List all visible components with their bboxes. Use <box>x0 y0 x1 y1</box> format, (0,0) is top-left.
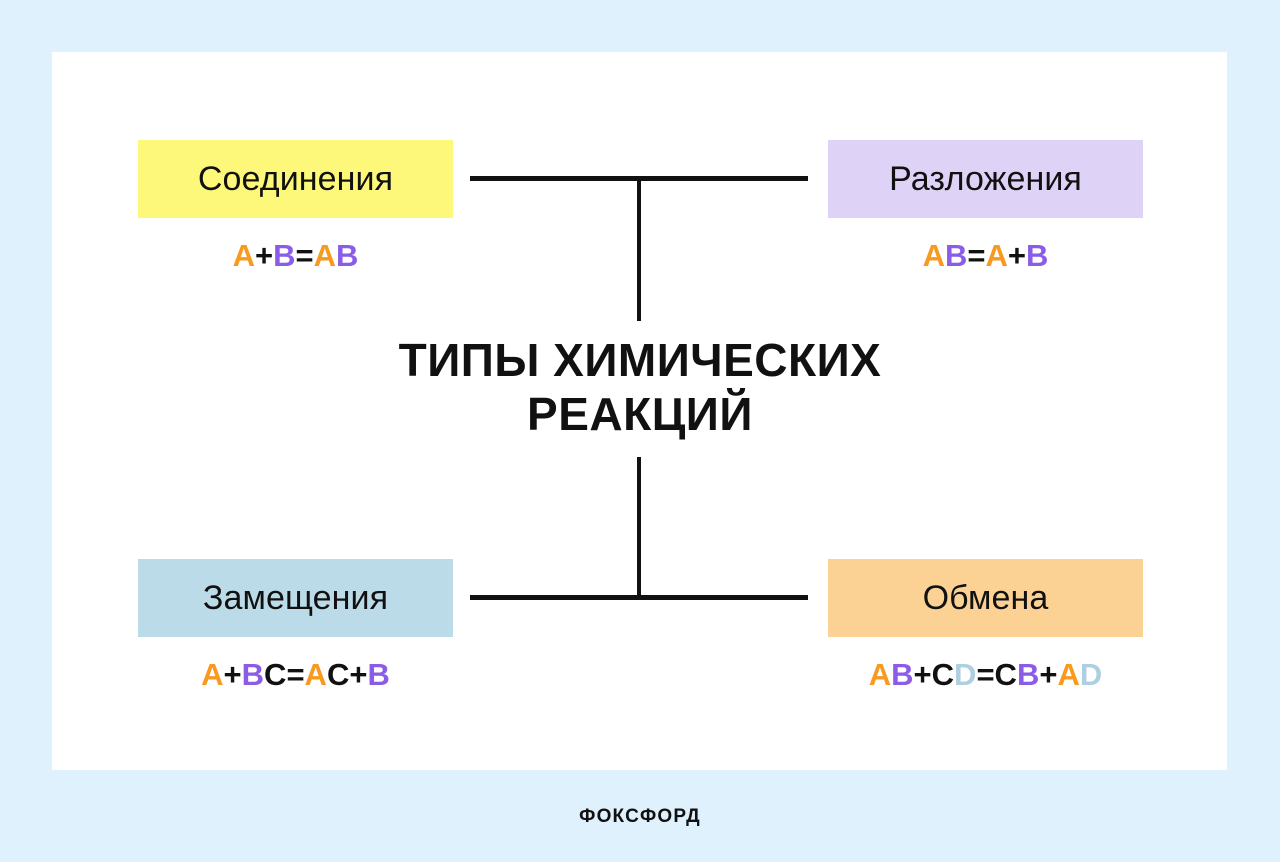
category-box-decomposition[interactable]: Разложения <box>828 140 1143 218</box>
category-box-compound[interactable]: Соединения <box>138 140 453 218</box>
formula-symbol-b: B <box>242 657 264 692</box>
formula-symbol-c: C <box>264 657 286 692</box>
formula-exchange: AB+CD=CB+AD <box>828 659 1143 690</box>
formula-symbol-a: A <box>314 238 336 273</box>
connector-line-vertical-bottom <box>637 457 641 600</box>
formula-symbol-a: A <box>869 657 891 692</box>
formula-symbol-b: B <box>1026 238 1048 273</box>
page-title-line-1: ТИПЫ ХИМИЧЕСКИХ <box>399 334 882 386</box>
formula-symbol-a: A <box>986 238 1008 273</box>
formula-symbol-=: = <box>286 657 304 692</box>
brand-logo-foxford: ФОКСФОРД <box>0 806 1280 828</box>
formula-symbol-c: C <box>932 657 954 692</box>
formula-symbol-b: B <box>891 657 913 692</box>
formula-symbol-b: B <box>945 238 967 273</box>
formula-symbol-c: C <box>327 657 349 692</box>
connector-line-horizontal-bottom <box>470 595 808 600</box>
formula-substitution: A+BC=AC+B <box>138 659 453 690</box>
category-label-compound: Соединения <box>198 162 393 196</box>
formula-symbol-+: + <box>914 657 932 692</box>
formula-decomposition: AB=A+B <box>828 240 1143 271</box>
formula-symbol-=: = <box>976 657 994 692</box>
category-box-substitution[interactable]: Замещения <box>138 559 453 637</box>
formula-symbol-c: C <box>995 657 1017 692</box>
infographic-canvas: Соединения A+B=AB Разложения AB=A+B ТИПЫ… <box>0 0 1280 862</box>
category-label-substitution: Замещения <box>203 581 388 615</box>
formula-symbol-a: A <box>305 657 327 692</box>
formula-symbol-+: + <box>349 657 367 692</box>
category-box-exchange[interactable]: Обмена <box>828 559 1143 637</box>
formula-symbol-=: = <box>296 238 314 273</box>
formula-symbol-+: + <box>1039 657 1057 692</box>
formula-symbol-a: A <box>201 657 223 692</box>
formula-symbol-b: B <box>1017 657 1039 692</box>
formula-symbol-b: B <box>367 657 389 692</box>
content-card: Соединения A+B=AB Разложения AB=A+B ТИПЫ… <box>52 52 1227 770</box>
page-title-line-2: РЕАКЦИЙ <box>240 387 1040 441</box>
connector-line-vertical-top <box>637 176 641 321</box>
page-title: ТИПЫ ХИМИЧЕСКИХ РЕАКЦИЙ <box>240 333 1040 442</box>
formula-symbol-b: B <box>336 238 358 273</box>
formula-symbol-+: + <box>255 238 273 273</box>
formula-symbol-d: D <box>954 657 976 692</box>
category-label-decomposition: Разложения <box>889 162 1082 196</box>
formula-symbol-d: D <box>1080 657 1102 692</box>
formula-symbol-b: B <box>273 238 295 273</box>
formula-symbol-=: = <box>967 238 985 273</box>
formula-symbol-a: A <box>1057 657 1079 692</box>
formula-symbol-+: + <box>1008 238 1026 273</box>
formula-symbol-a: A <box>233 238 255 273</box>
formula-symbol-a: A <box>923 238 945 273</box>
category-label-exchange: Обмена <box>923 581 1049 615</box>
formula-symbol-+: + <box>224 657 242 692</box>
formula-compound: A+B=AB <box>138 240 453 271</box>
